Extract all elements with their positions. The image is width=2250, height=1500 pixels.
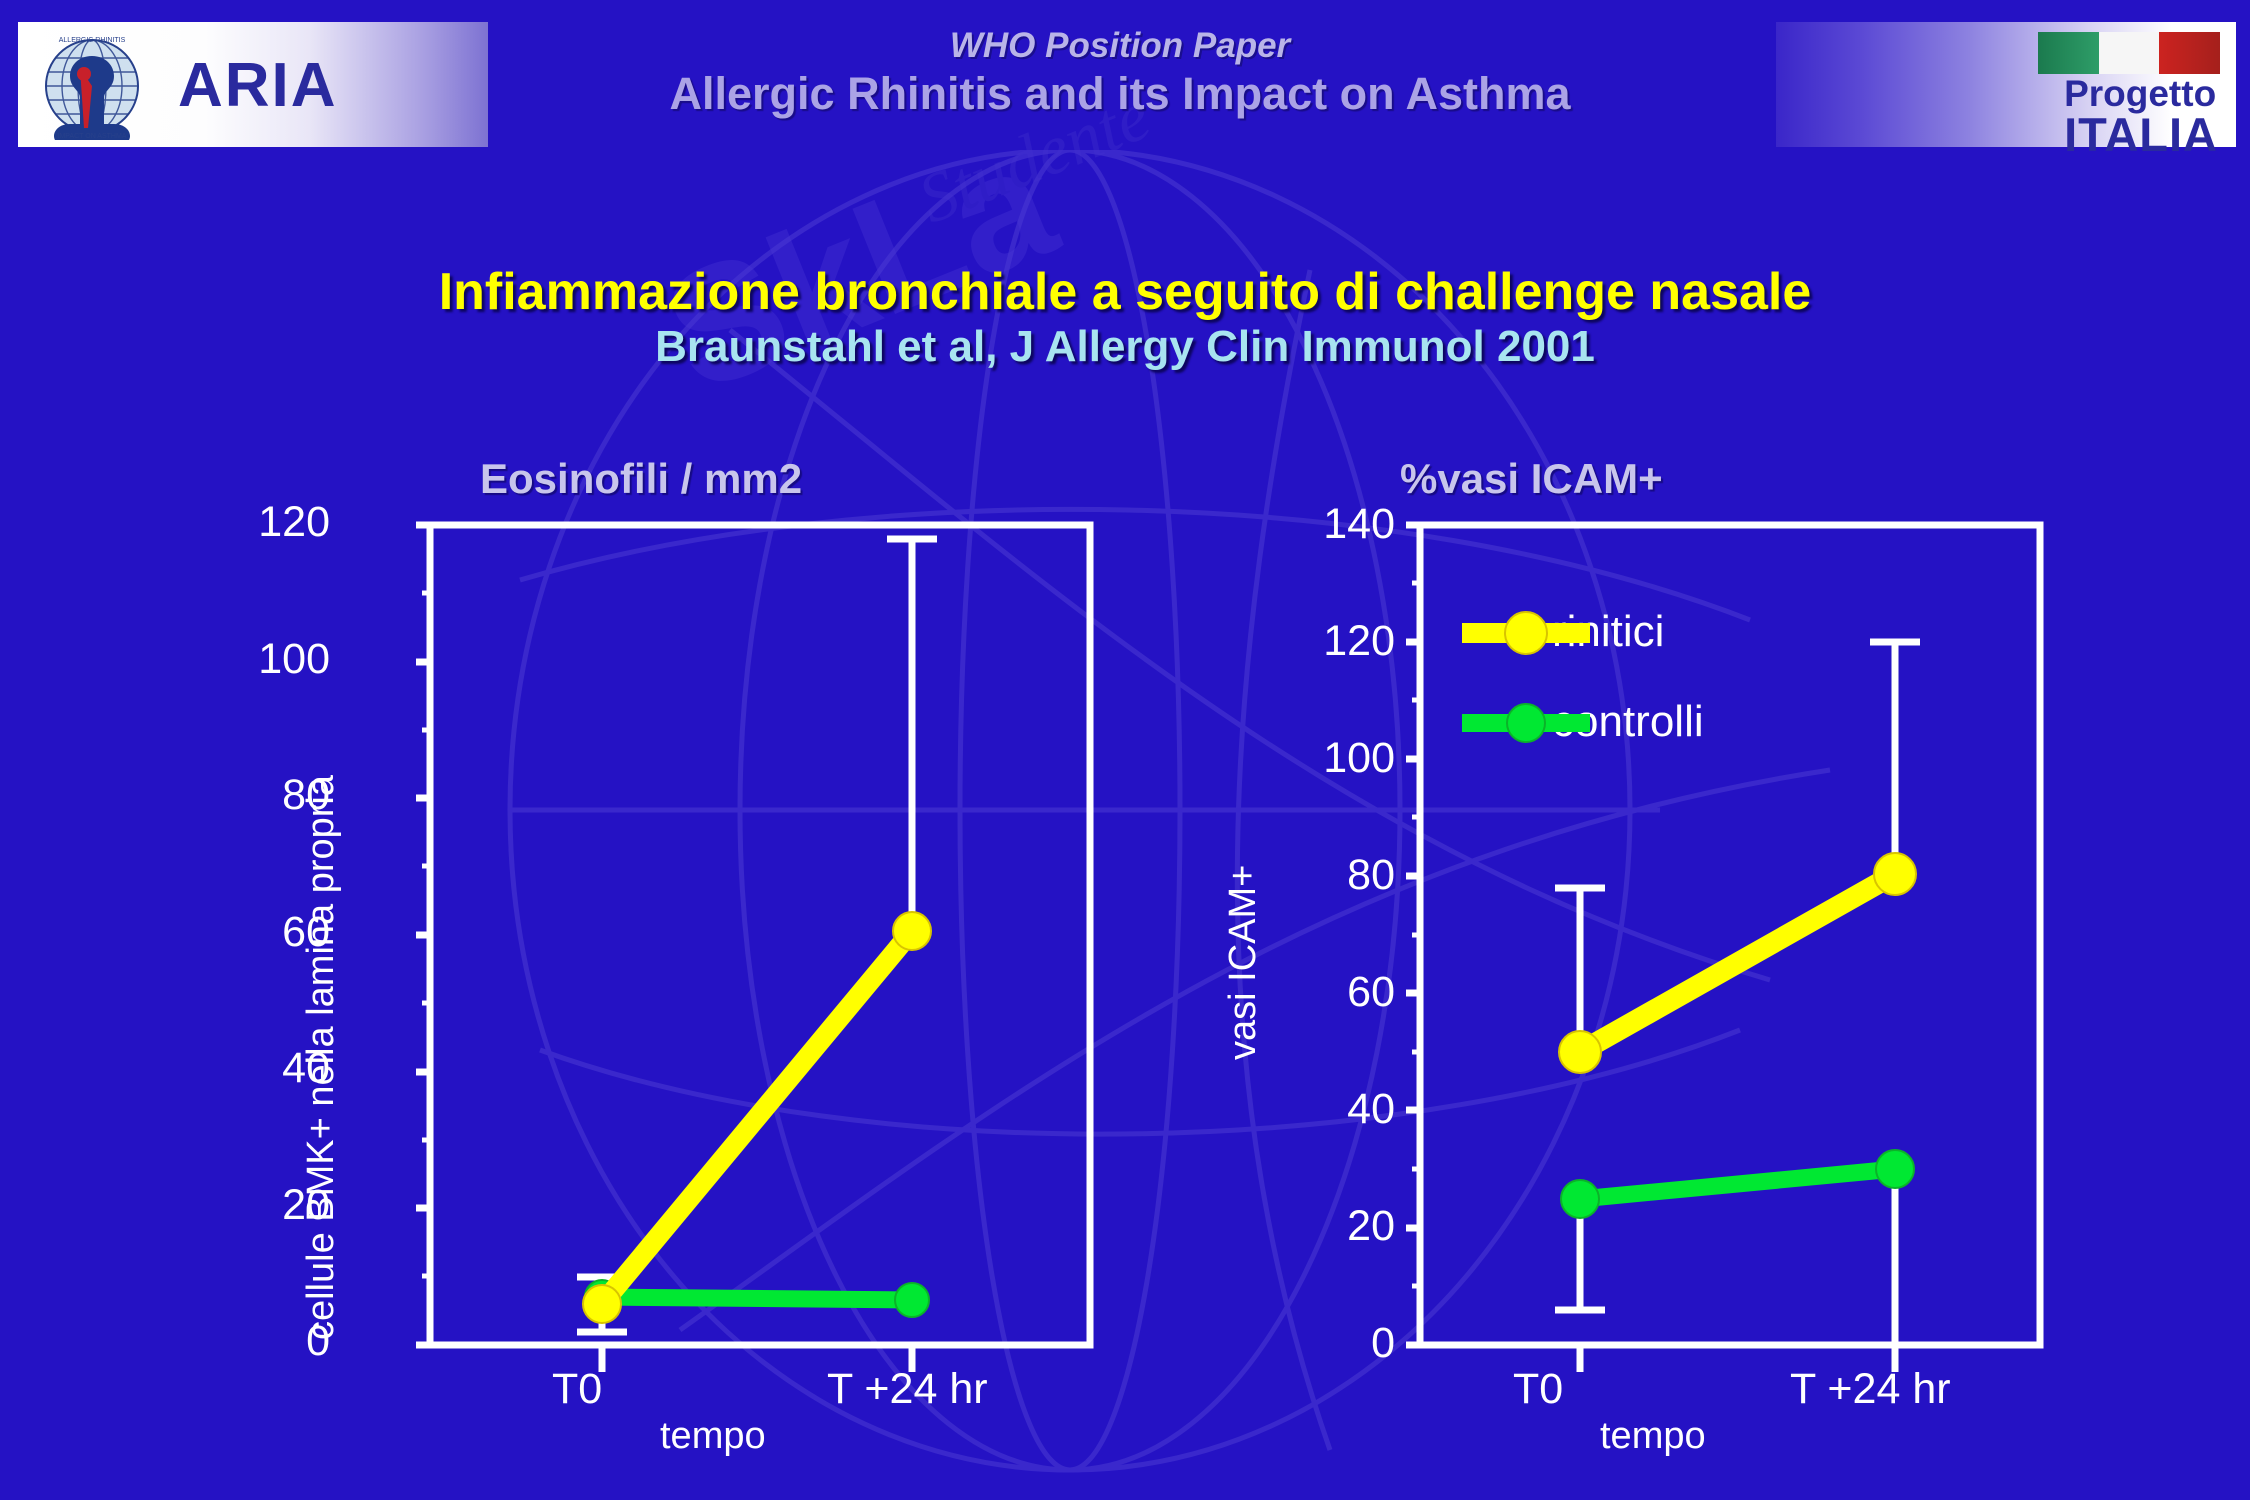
chart-right-ytick-40: 40: [1265, 1085, 1395, 1134]
chart-right-ytick-60: 60: [1265, 968, 1395, 1017]
aria-globe-emblem-icon: ALLERGIC RHINITIS IMPACT ON ASTHMA: [36, 28, 148, 140]
chart-right-ytick-140: 140: [1265, 500, 1395, 549]
chart-left-ytick-40: 40: [200, 1044, 330, 1093]
aria-logo: ALLERGIC RHINITIS IMPACT ON ASTHMA ARIA: [18, 22, 488, 147]
chart-right-plot: [1390, 490, 2060, 1380]
chart-left-ytick-80: 80: [200, 771, 330, 820]
chart-left-ytick-0: 0: [200, 1317, 330, 1366]
italia-label: ITALIA: [2064, 112, 2218, 157]
chart-left-plot: [330, 490, 1120, 1380]
slide-header: ALLERGIC RHINITIS IMPACT ON ASTHMA ARIA …: [0, 0, 2250, 170]
chart-right-ytick-20: 20: [1265, 1202, 1395, 1251]
chart-left-ytick-120: 120: [200, 498, 330, 547]
legend-swatch-controlli: [1462, 704, 1590, 742]
chart-left-ytick-20: 20: [200, 1181, 330, 1230]
chart-right-x-axis-title: tempo: [1600, 1415, 1706, 1458]
chart-left-ytick-100: 100: [200, 635, 330, 684]
svg-text:ALLERGIC RHINITIS: ALLERGIC RHINITIS: [59, 37, 126, 44]
svg-text:IMPACT ON ASTHMA: IMPACT ON ASTHMA: [58, 133, 127, 140]
chart-right-ytick-80: 80: [1265, 851, 1395, 900]
legend-swatch-rinitici: [1462, 612, 1590, 654]
chart-left-ytick-60: 60: [200, 908, 330, 957]
chart-right-y-axis-title: vasi ICAM+: [1222, 865, 1265, 1060]
chart-left-x-axis-title: tempo: [660, 1415, 766, 1458]
who-position-paper-line: WHO Position Paper: [560, 26, 1680, 66]
chart-right-ytick-120: 120: [1265, 617, 1395, 666]
progetto-label: Progetto: [2064, 76, 2218, 112]
chart-right-ytick-100: 100: [1265, 734, 1395, 783]
aria-wordmark: ARIA: [178, 50, 338, 121]
slide-subtitle-citation: Braunstahl et al, J Allergy Clin Immunol…: [0, 322, 2250, 372]
header-center-text: WHO Position Paper Allergic Rhinitis and…: [560, 26, 1680, 120]
chart-right-ytick-0: 0: [1265, 1319, 1395, 1368]
aria-full-title-line: Allergic Rhinitis and its Impact on Asth…: [560, 68, 1680, 120]
slide-title: Infiammazione bronchiale a seguito di ch…: [0, 262, 2250, 322]
progetto-italia-text: Progetto ITALIA: [2064, 76, 2218, 157]
progetto-italia-logo: Progetto ITALIA: [1776, 22, 2236, 147]
italian-flag-icon: [2038, 32, 2220, 74]
